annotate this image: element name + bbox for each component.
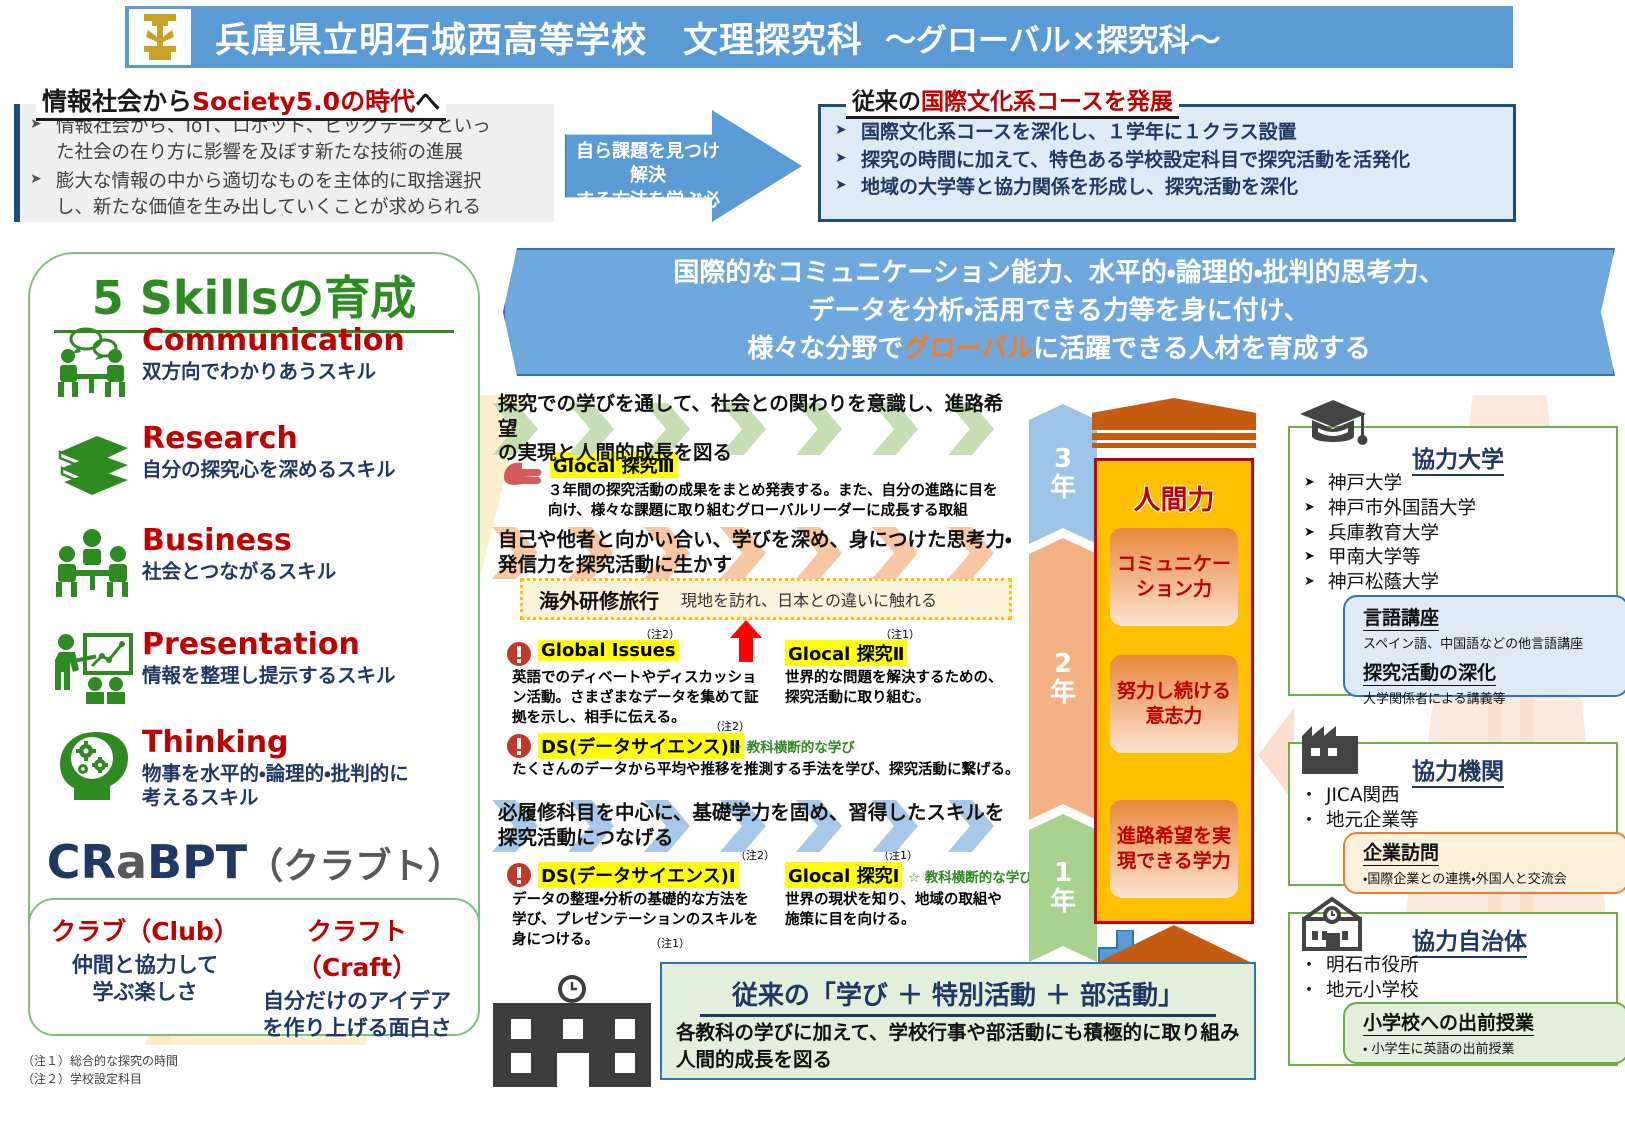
course-note-glocal2: （注1） [880,626,920,642]
list-item: 国際文化系コースを深化し、１学年に１クラス設置 [835,119,1505,147]
crabpt-body: 自分だけのアイデア を作り上げる面白さ [248,988,466,1043]
list-item: JICA関西 [1300,784,1600,809]
factory-icon [1302,722,1364,774]
year-label: 3 年 [1050,445,1076,502]
exclamation-badge-icon [506,733,532,759]
exclamation-badge-icon [506,641,532,667]
stage-band-2nd: 自己や他者と向かい合い、学びを深め、身につけた思考力・ 発信力を探究活動に生かす [492,527,1020,579]
partner-list-universities: 神戸大学 神戸市外国語大学 兵庫教育大学 甲南大学等 神戸松蔭大学 [1302,472,1602,596]
meeting-icon [52,526,136,602]
partner-title-municipalities: 協力自治体 [1412,922,1527,958]
footnotes: （注１）総合的な探究の時間 （注２）学校設定科目 [22,1052,178,1088]
skill-label-en: Research [142,424,396,454]
town-hall-icon [1298,895,1366,953]
year-arrow-1: 1 年 [1029,814,1097,962]
infographic-page: 兵庫県立明石城西高等学校 文理探究科 ～グローバル×探究科～ 情報社会から、Io… [0,0,1625,1125]
list-item: 膨大な情報の中から適切なものを主体的に取捨選択 し、新たな価値を生み出していくこ… [30,169,546,222]
course-body-glocal3: ３年間の探究活動の成果をまとめ発表する。また、自分の進路に目を 向け、様々な課題… [548,481,1018,521]
skill-item-thinking: Thinking 物事を水平的・論理的・批判的に 考えるスキル [52,728,452,811]
footnote-1: （注１）総合的な探究の時間 [22,1052,178,1070]
stage-band-label: 必履修科目を中心に、基礎学力を固め、習得したスキルを 探究活動につなげる [498,801,1004,851]
year-label: 2 年 [1050,650,1076,707]
info-title-emphasis: Society5.0の時代 [192,87,415,116]
list-item: 明石市役所 [1300,954,1600,979]
skill-item-research: Research 自分の探究心を深めるスキル [52,424,452,500]
books-icon [52,424,136,500]
list-item: 神戸松蔭大学 [1302,571,1602,596]
crabpt-head: クラフト（Craft） [248,912,466,984]
course-body-glocal2: 世界的な問題を解決するための、 探究活動に取り組む。 [785,668,1020,708]
school-building-icon [483,975,661,1087]
info-list: 情報社会から、IoT、ロボット、ビッグデータといっ た社会の在り方に影響を及ぼす… [20,104,554,221]
human-power-card-communication: コミュニケー ション力 [1110,528,1238,626]
crabpt-head: クラブ（Club） [36,912,254,948]
info-title-suffix: へ [415,87,440,116]
goal-emphasis: グローバル [903,334,1033,364]
list-item: 神戸大学 [1302,472,1602,497]
info-box: 情報社会から、IoT、ロボット、ビッグデータといっ た社会の在り方に影響を及ぼす… [14,104,554,222]
goal-line-3: 様々な分野でグローバルに活躍できる人材を育成する [673,331,1444,369]
crabpt-body: 仲間と協力して 学ぶ楽しさ [36,952,254,1007]
graduation-cap-icon [1298,396,1368,454]
subcard-head: 企業訪問 [1363,838,1439,866]
stage-band-1st: 必履修科目を中心に、基礎学力を固め、習得したスキルを 探究活動につなげる [492,800,1020,852]
cross-curricular-tag: ☆ 教科横断的な学び [730,736,855,756]
list-item: 探究の時間に加えて、特色ある学校設定科目で探究活動を活発化 [835,147,1505,175]
human-power-card-label: 努力し続ける 意志力 [1117,679,1231,728]
human-power-title: 人間力 [1094,478,1254,517]
stage-band-label: 探究での学びを通して、社会との関わりを意識し、進路希望 の実現と人間的成長を図る [498,392,1020,467]
overseas-trip-box: 海外研修旅行 現地を訪れ、日本との違いに触れる [520,578,1012,620]
roof-top [1092,398,1256,430]
need-arrow-label: 自ら課題を見つけ解決 する方法を学ぶ必要性 [573,140,723,237]
subcard-head: 言語講座 [1363,603,1439,631]
page-subtitle: ～グローバル×探究科～ [885,15,1221,60]
year-arrow-3: 3 年 [1029,404,1097,544]
overseas-trip-body: 現地を訪れ、日本との違いに触れる [681,587,937,611]
course-list: 国際文化系コースを深化し、１学年に１クラス設置 探究の時間に加えて、特色ある学校… [821,107,1513,202]
skill-label-jp: 自分の探究心を深めるスキル [142,458,396,482]
base-box-body: 各教科の学びに加えて、学校行事や部活動にも積極的に取り組み 人間的成長を図る [676,1020,1246,1074]
course-extra-note: （注1） [650,935,690,951]
subcard-body: ・国際企業との連携・外国人と交流会 [1363,868,1625,887]
exclamation-badge-icon [506,862,532,888]
info-box-title: 情報社会からSociety5.0の時代へ [36,82,446,121]
course-box: 国際文化系コースを深化し、１学年に１クラス設置 探究の時間に加えて、特色ある学校… [818,104,1516,222]
human-power-card-label: 進路希望を実 現できる学力 [1117,824,1231,873]
course-title-prefix: 従来の [852,89,921,115]
skill-item-communication: Communication 双方向でわかりあうスキル [52,326,452,402]
skill-label-jp: 双方向でわかりあうスキル [142,360,405,384]
up-arrow-icon [730,620,762,662]
footnote-2: （注２）学校設定科目 [22,1070,178,1088]
course-title-glocal2: Glocal 探究Ⅱ [785,640,907,666]
partner-subcard-organizations: 企業訪問 ・国際企業との連携・外国人と交流会 [1343,832,1625,894]
course-title-emphasis: 国際文化系コースを発展 [921,89,1173,115]
list-item: 兵庫教育大学 [1302,522,1602,547]
skill-label-jp: 情報を整理し提示するスキル [142,664,396,688]
partner-title-universities: 協力大学 [1412,440,1504,476]
goal-line-1: 国際的なコミュニケーション能力、水平的・論理的・批判的思考力、 [673,255,1444,293]
roof-bar-1 [1092,433,1256,440]
subcard-body: ・ 小学生に英語の出前授業 [1363,1038,1625,1057]
skill-item-presentation: Presentation 情報を整理し提示するスキル [52,630,452,706]
human-power-card-will: 努力し続ける 意志力 [1110,655,1238,753]
skill-label-jp: 社会とつながるスキル [142,560,336,584]
page-title: 兵庫県立明石城西高等学校 文理探究科 [215,12,863,63]
stage-band-label: 自己や他者と向かい合い、学びを深め、身につけた思考力・ 発信力を探究活動に生かす [498,528,1012,578]
base-box-title: 従来の「学び ＋ 特別活動 ＋ 部活動」 [700,975,1216,1017]
list-item: 地元小学校 [1300,979,1600,1004]
subcard-head: 小学校への出前授業 [1363,1008,1534,1036]
course-body-glocal1: 世界の現状を知り、地域の取組や 施策に目を向ける。 [785,890,1025,930]
crabpt-title: CRaBPT（クラブト） [40,835,470,889]
brain-gears-icon [52,728,136,804]
list-item: 神戸市外国語大学 [1302,497,1602,522]
course-title-glocal1: Glocal 探究Ⅰ [785,862,902,888]
skill-label-en: Thinking [142,728,409,758]
subcard-body: スペイン語、中国語などの他言語講座 [1363,633,1625,652]
goal-line-2: データを分析・活用できる力等を身に付け、 [673,293,1444,331]
course-box-title: 従来の国際文化系コースを発展 [846,82,1179,119]
list-item: 甲南大学等 [1302,546,1602,571]
partner-subcard-universities: 言語講座 スペイン語、中国語などの他言語講座 探究活動の深化 大学関係者による講… [1343,595,1625,697]
overseas-trip-title: 海外研修旅行 [539,585,659,614]
course-title-ds1: DS(データサイエンス)Ⅰ [538,862,739,888]
roof-bar-2 [1092,443,1256,448]
partner-subcard-municipalities: 小学校への出前授業 ・ 小学生に英語の出前授業 [1343,1002,1625,1064]
crabpt-column-club: クラブ（Club） 仲間と協力して 学ぶ楽しさ [36,912,254,1007]
list-item: 地域の大学等と協力関係を形成し、探究活動を深化 [835,174,1505,202]
year-label: 1 年 [1050,859,1076,916]
crabpt-column-craft: クラフト（Craft） 自分だけのアイデア を作り上げる面白さ [248,912,466,1043]
goal-banner: 国際的なコミュニケーション能力、水平的・論理的・批判的思考力、 データを分析・活… [503,248,1615,376]
course-title-ds2: DS(データサイエンス)Ⅱ [538,733,744,759]
list-item: 地元企業等 [1300,809,1600,834]
need-arrow: 自ら課題を見つけ解決 する方法を学ぶ必要性 [565,110,800,220]
skill-label-en: Presentation [142,630,396,660]
course-title-global-issues: Global Issues [538,640,679,661]
skill-label-en: Communication [142,326,405,356]
skill-label-en: Business [142,526,336,556]
presentation-icon [52,630,136,706]
header-bar: 兵庫県立明石城西高等学校 文理探究科 ～グローバル×探究科～ [125,6,1513,68]
course-note-global-issues: （注2） [640,626,680,642]
list-item: 情報社会から、IoT、ロボット、ビッグデータといっ た社会の在り方に影響を及ぼす… [30,114,546,167]
skill-label-jp: 物事を水平的・論理的・批判的に 考えるスキル [142,762,409,811]
human-power-card-academic: 進路希望を実 現できる学力 [1110,800,1238,898]
goal-banner-text: 国際的なコミュニケーション能力、水平的・論理的・批判的思考力、 データを分析・活… [673,255,1444,368]
subcard-head: 探究活動の深化 [1363,658,1496,686]
human-power-card-label: コミュニケー ション力 [1117,552,1231,601]
roof-icon [1092,398,1256,454]
course-body-ds1: データの整理・分析の基礎的な方法を 学び、プレゼンテーションのスキルを 身につけ… [512,890,774,950]
school-crest-icon [129,9,191,65]
year-arrow-2: 2 年 [1029,538,1097,820]
partner-title-organizations: 協力機関 [1412,752,1504,788]
skill-item-business: Business 社会とつながるスキル [52,526,452,602]
course-body-ds2: たくさんのデータから平均や推移を推測する手法を学び、探究活動に繋げる。 [512,760,1022,780]
cross-curricular-tag: ☆ 教科横断的な学び [908,866,1033,886]
course-note-ds2: （注2） [710,718,750,734]
communication-icon [52,326,136,402]
info-title-prefix: 情報社会から [42,87,192,116]
subcard-body: 大学関係者による講義等 [1363,688,1625,707]
partner-list-municipalities: 明石市役所 地元小学校 [1300,954,1600,1004]
stage-band-3rd: 探究での学びを通して、社会との関わりを意識し、進路希望 の実現と人間的成長を図る [492,403,1020,455]
partner-list-organizations: JICA関西 地元企業等 [1300,784,1600,834]
